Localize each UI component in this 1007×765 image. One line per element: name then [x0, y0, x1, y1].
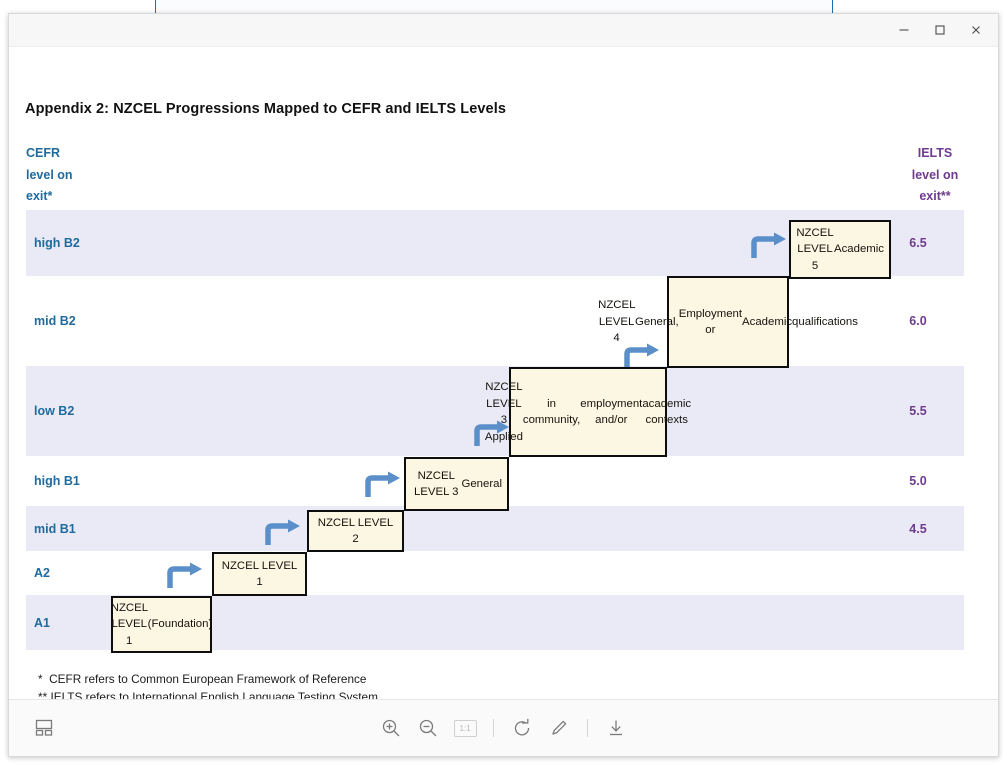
cefr-level-label: high B1 — [34, 474, 80, 488]
ielts-score-value: 6.0 — [872, 314, 964, 328]
cefr-column-header: CEFR level on exit* — [26, 143, 73, 208]
ielts-score-value: 4.5 — [872, 522, 964, 536]
zoom-in-icon[interactable] — [376, 713, 406, 743]
toolbar-center-group: 1:1 — [376, 713, 631, 743]
ielts-column-header: IELTS level on exit** — [889, 143, 981, 208]
cefr-level-label: high B2 — [34, 236, 80, 250]
ielts-header-line-2: level on — [889, 165, 981, 187]
cefr-header-line-1: CEFR — [26, 143, 73, 165]
thumbnail-panel-icon[interactable] — [29, 713, 59, 743]
progression-arrow-icon — [263, 515, 303, 547]
ielts-score-value: 5.0 — [872, 474, 964, 488]
nzcel-level-1-foundation-box[interactable]: NZCEL LEVEL 1(Foundation) — [111, 596, 212, 653]
page-title: Appendix 2: NZCEL Progressions Mapped to… — [25, 101, 506, 117]
document-canvas[interactable]: Appendix 2: NZCEL Progressions Mapped to… — [9, 47, 998, 699]
viewer-toolbar: 1:1 — [9, 699, 998, 756]
footnotes: * CEFR refers to Common European Framewo… — [38, 670, 378, 699]
close-button[interactable] — [958, 16, 994, 44]
cefr-level-label: mid B1 — [34, 522, 76, 536]
nzcel-level-3-applied-box[interactable]: NZCEL LEVEL 3 Appliedin community,employ… — [509, 367, 667, 457]
nzcel-level-5-box[interactable]: NZCEL LEVEL 5Academic — [789, 220, 891, 279]
window-titlebar — [9, 14, 998, 47]
background-window[interactable] — [155, 0, 833, 14]
nzcel-level-3-general-box[interactable]: NZCEL LEVEL 3General — [404, 457, 509, 511]
nzcel-level-1-box[interactable]: NZCEL LEVEL 1 — [212, 552, 307, 596]
maximize-button[interactable] — [922, 16, 958, 44]
cefr-level-label: mid B2 — [34, 314, 76, 328]
ielts-header-line-1: IELTS — [889, 143, 981, 165]
footnote-ielts: ** IELTS refers to International English… — [38, 688, 378, 699]
ielts-header-line-3: exit** — [889, 186, 981, 208]
ielts-score-value: 5.5 — [872, 404, 964, 418]
cefr-level-label: low B2 — [34, 404, 74, 418]
nzcel-level-2-box[interactable]: NZCEL LEVEL 2 — [307, 510, 404, 552]
actual-size-label: 1:1 — [454, 720, 477, 737]
progression-grid: high B2 6.5 mid B2 6.0 low B2 5.5 high B… — [26, 210, 964, 650]
zoom-out-icon[interactable] — [413, 713, 443, 743]
edit-icon[interactable] — [544, 713, 574, 743]
nzcel-level-4-box[interactable]: NZCEL LEVEL 4General,Employment orAcadem… — [667, 276, 789, 368]
footnote-cefr: * CEFR refers to Common European Framewo… — [38, 670, 378, 688]
table-row: mid B1 4.5 — [26, 506, 964, 551]
download-icon[interactable] — [601, 713, 631, 743]
toolbar-separator — [587, 719, 588, 737]
cefr-header-line-3: exit* — [26, 186, 73, 208]
progression-arrow-icon — [165, 558, 205, 590]
progression-arrow-icon — [749, 228, 789, 260]
rotate-icon[interactable] — [507, 713, 537, 743]
screen: Appendix 2: NZCEL Progressions Mapped to… — [0, 0, 1007, 765]
toolbar-separator — [493, 719, 494, 737]
image-viewer-window: Appendix 2: NZCEL Progressions Mapped to… — [8, 13, 999, 757]
actual-size-button[interactable]: 1:1 — [450, 713, 480, 743]
minimize-button[interactable] — [886, 16, 922, 44]
cefr-level-label: A1 — [34, 616, 50, 630]
toolbar-left-group — [29, 713, 59, 743]
cefr-header-line-2: level on — [26, 165, 73, 187]
progression-arrow-icon — [363, 467, 403, 499]
cefr-level-label: A2 — [34, 566, 50, 580]
